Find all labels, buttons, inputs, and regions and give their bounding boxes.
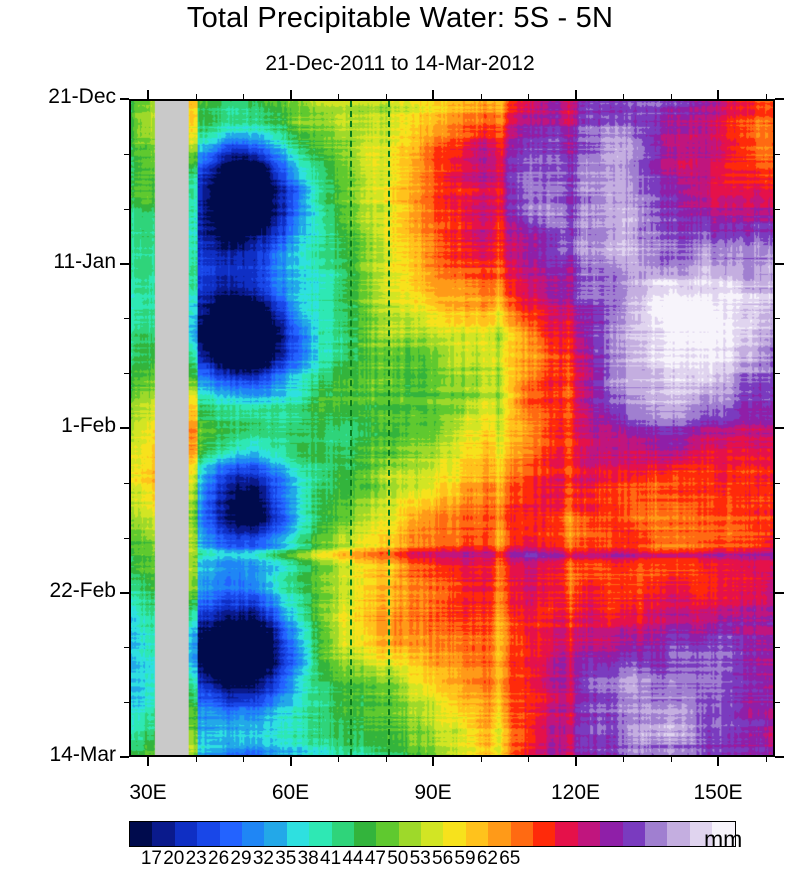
x-axis-label: 90E [393, 781, 473, 805]
x-tick-major [717, 757, 719, 766]
x-tick-major [432, 757, 434, 766]
y-tick-minor [124, 538, 129, 539]
chart-title: Total Precipitable Water: 5S - 5N [0, 2, 800, 35]
colorbar-cell [399, 822, 421, 846]
x-tick-minor [243, 757, 244, 762]
x-tick-minor [766, 94, 767, 99]
y-tick-minor [124, 373, 129, 374]
y-tick-minor [124, 209, 129, 210]
colorbar-cell [175, 822, 197, 846]
y-tick-minor [775, 209, 780, 210]
colorbar-cell [511, 822, 533, 846]
x-tick-minor [528, 757, 529, 762]
y-tick-minor [775, 373, 780, 374]
y-axis-label: 14-Mar [4, 743, 116, 767]
x-axis-label: 60E [251, 781, 331, 805]
x-tick-minor [528, 94, 529, 99]
colorbar-cell [533, 822, 555, 846]
x-tick-minor [623, 757, 624, 762]
x-tick-minor [338, 757, 339, 762]
x-tick-minor [386, 94, 387, 99]
colorbar-cell [421, 822, 443, 846]
y-tick-minor [775, 538, 780, 539]
dashed-line-east [388, 101, 390, 755]
x-axis-label: 150E [678, 781, 758, 805]
colorbar-cell [488, 822, 510, 846]
x-tick-minor [243, 94, 244, 99]
y-axis-label: 21-Dec [4, 85, 116, 109]
y-tick-major [775, 98, 784, 100]
colorbar-cell [667, 822, 689, 846]
x-tick-minor [481, 94, 482, 99]
precipitable-water-field [131, 101, 773, 755]
colorbar-cell [466, 822, 488, 846]
x-tick-minor [196, 757, 197, 762]
x-tick-minor [196, 94, 197, 99]
y-tick-major [120, 592, 129, 594]
colorbar-cell [197, 822, 219, 846]
x-tick-minor [623, 94, 624, 99]
x-tick-minor [338, 94, 339, 99]
x-tick-minor [766, 757, 767, 762]
y-tick-major [120, 427, 129, 429]
y-tick-minor [775, 154, 780, 155]
x-axis-label: 30E [108, 781, 188, 805]
y-tick-major [775, 427, 784, 429]
y-tick-minor [124, 647, 129, 648]
y-tick-minor [775, 647, 780, 648]
x-tick-major [575, 757, 577, 766]
x-tick-major [432, 90, 434, 99]
y-axis-label: 1-Feb [4, 414, 116, 438]
y-tick-major [775, 592, 784, 594]
y-tick-minor [124, 702, 129, 703]
x-tick-major [717, 90, 719, 99]
colorbar-cell [354, 822, 376, 846]
y-tick-major [120, 263, 129, 265]
colorbar-cell [130, 822, 152, 846]
x-tick-major [290, 90, 292, 99]
colorbar-cell [332, 822, 354, 846]
y-tick-major [775, 756, 784, 758]
y-tick-minor [775, 318, 780, 319]
colorbar-cell [376, 822, 398, 846]
hovmoller-plot-area [129, 99, 775, 757]
colorbar-cell [645, 822, 667, 846]
colorbar-cell [220, 822, 242, 846]
colorbar-cell [152, 822, 174, 846]
chart-subtitle: 21-Dec-2011 to 14-Mar-2012 [0, 52, 800, 76]
colorbar-unit-label: mm [704, 826, 742, 853]
colorbar-cell [309, 822, 331, 846]
colorbar-cell [264, 822, 286, 846]
x-tick-minor [481, 757, 482, 762]
x-tick-minor [671, 94, 672, 99]
colorbar-cell [443, 822, 465, 846]
y-tick-minor [775, 483, 780, 484]
colorbar-cell [623, 822, 645, 846]
colorbar-cell [578, 822, 600, 846]
y-axis-label: 11-Jan [4, 250, 116, 274]
x-tick-major [147, 90, 149, 99]
colorbar [129, 821, 734, 845]
x-tick-major [290, 757, 292, 766]
y-tick-minor [124, 318, 129, 319]
x-tick-major [147, 757, 149, 766]
y-tick-minor [775, 702, 780, 703]
dashed-line-west [350, 101, 352, 755]
colorbar-cell [600, 822, 622, 846]
y-tick-minor [124, 483, 129, 484]
colorbar-swatches [129, 821, 736, 847]
y-tick-major [120, 98, 129, 100]
x-tick-minor [386, 757, 387, 762]
y-tick-minor [124, 154, 129, 155]
x-tick-major [575, 90, 577, 99]
colorbar-cell [287, 822, 309, 846]
x-tick-minor [671, 757, 672, 762]
colorbar-cell [555, 822, 577, 846]
colorbar-cell [242, 822, 264, 846]
y-axis-label: 22-Feb [4, 579, 116, 603]
y-tick-major [775, 263, 784, 265]
x-axis-label: 120E [536, 781, 616, 805]
y-tick-major [120, 756, 129, 758]
